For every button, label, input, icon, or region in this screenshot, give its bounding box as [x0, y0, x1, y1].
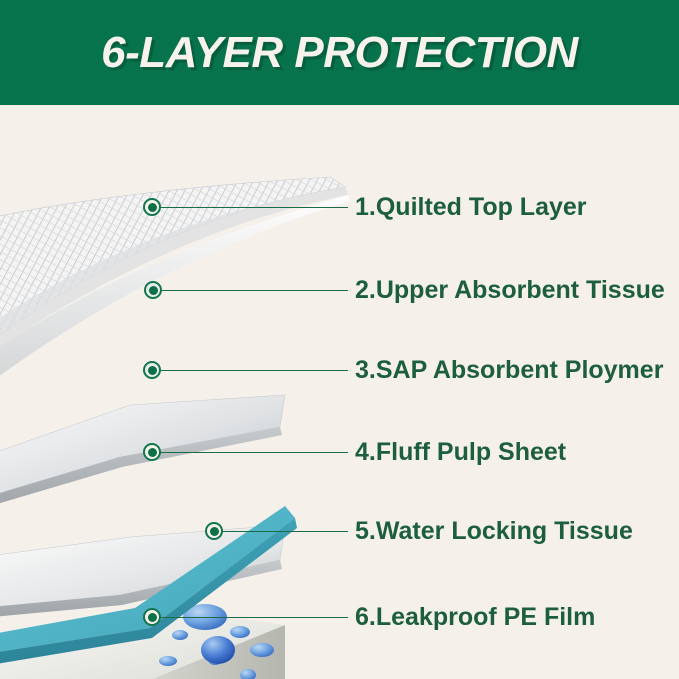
infographic-canvas: 6-LAYER PROTECTION [0, 0, 679, 679]
layer-label-4: 4.Fluff Pulp Sheet [355, 440, 566, 465]
leader-line-2 [161, 290, 348, 291]
layer-label-5: 5.Water Locking Tissue [355, 519, 633, 544]
layer-marker-3[interactable] [143, 361, 161, 379]
layer-marker-2[interactable] [144, 281, 162, 299]
layer-marker-5[interactable] [205, 522, 223, 540]
leader-line-4 [160, 452, 348, 453]
header-banner: 6-LAYER PROTECTION [0, 0, 679, 105]
layer-marker-1[interactable] [143, 198, 161, 216]
pe-film-art [0, 480, 360, 679]
leader-line-1 [160, 207, 348, 208]
leader-line-6 [160, 617, 348, 618]
layer-label-3: 3.SAP Absorbent Ploymer [355, 358, 663, 383]
layer-label-1: 1.Quilted Top Layer [355, 195, 587, 220]
layer-marker-4[interactable] [143, 443, 161, 461]
layer-label-6: 6.Leakproof PE Film [355, 605, 595, 630]
page-title: 6-LAYER PROTECTION [0, 0, 679, 105]
leader-line-3 [160, 370, 348, 371]
leader-line-5 [222, 531, 348, 532]
layer-label-2: 2.Upper Absorbent Tissue [355, 278, 665, 303]
layer-marker-6[interactable] [143, 608, 161, 626]
